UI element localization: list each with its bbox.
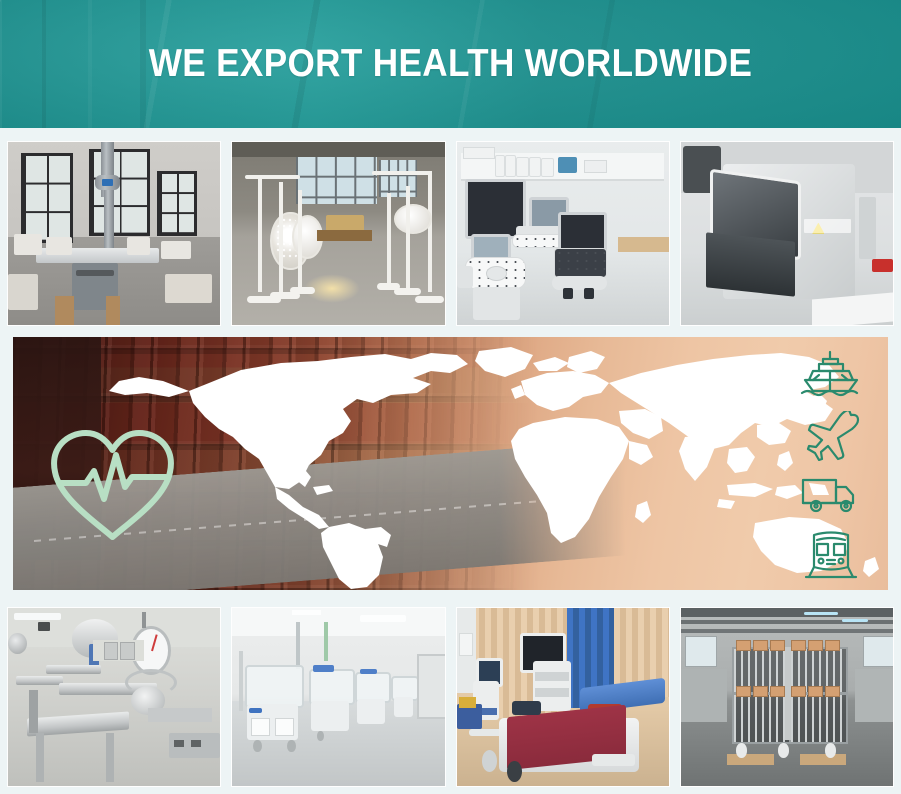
photo-laboratory-analyzer-unit[interactable] bbox=[681, 142, 893, 325]
global-shipping-banner[interactable] bbox=[13, 337, 888, 590]
photo-hospital-ward-bed-room[interactable] bbox=[457, 608, 669, 786]
heartbeat-heart-icon bbox=[46, 425, 179, 545]
truck-icon bbox=[800, 475, 862, 515]
transport-icons-group bbox=[792, 349, 870, 581]
header-banner: WE EXPORT HEALTH WORLDWIDE bbox=[0, 0, 901, 128]
promo-page: WE EXPORT HEALTH WORLDWIDE bbox=[0, 0, 901, 794]
photo-surgical-lamp-warehouse[interactable] bbox=[232, 142, 444, 325]
photo-ultrasound-machines-room[interactable] bbox=[457, 142, 669, 325]
page-title: WE EXPORT HEALTH WORLDWIDE bbox=[45, 0, 856, 128]
photo-veterinary-steel-tables[interactable] bbox=[8, 608, 220, 786]
photo-infant-incubators-corridor[interactable] bbox=[232, 608, 444, 786]
ship-icon bbox=[799, 349, 863, 397]
airplane-icon bbox=[800, 411, 862, 461]
gallery-top-row bbox=[8, 142, 893, 325]
photo-veterinary-cages-stack[interactable] bbox=[681, 608, 893, 786]
gallery-bottom-row bbox=[8, 608, 893, 786]
train-icon bbox=[800, 529, 862, 581]
photo-x-ray-machine-workshop[interactable] bbox=[8, 142, 220, 325]
